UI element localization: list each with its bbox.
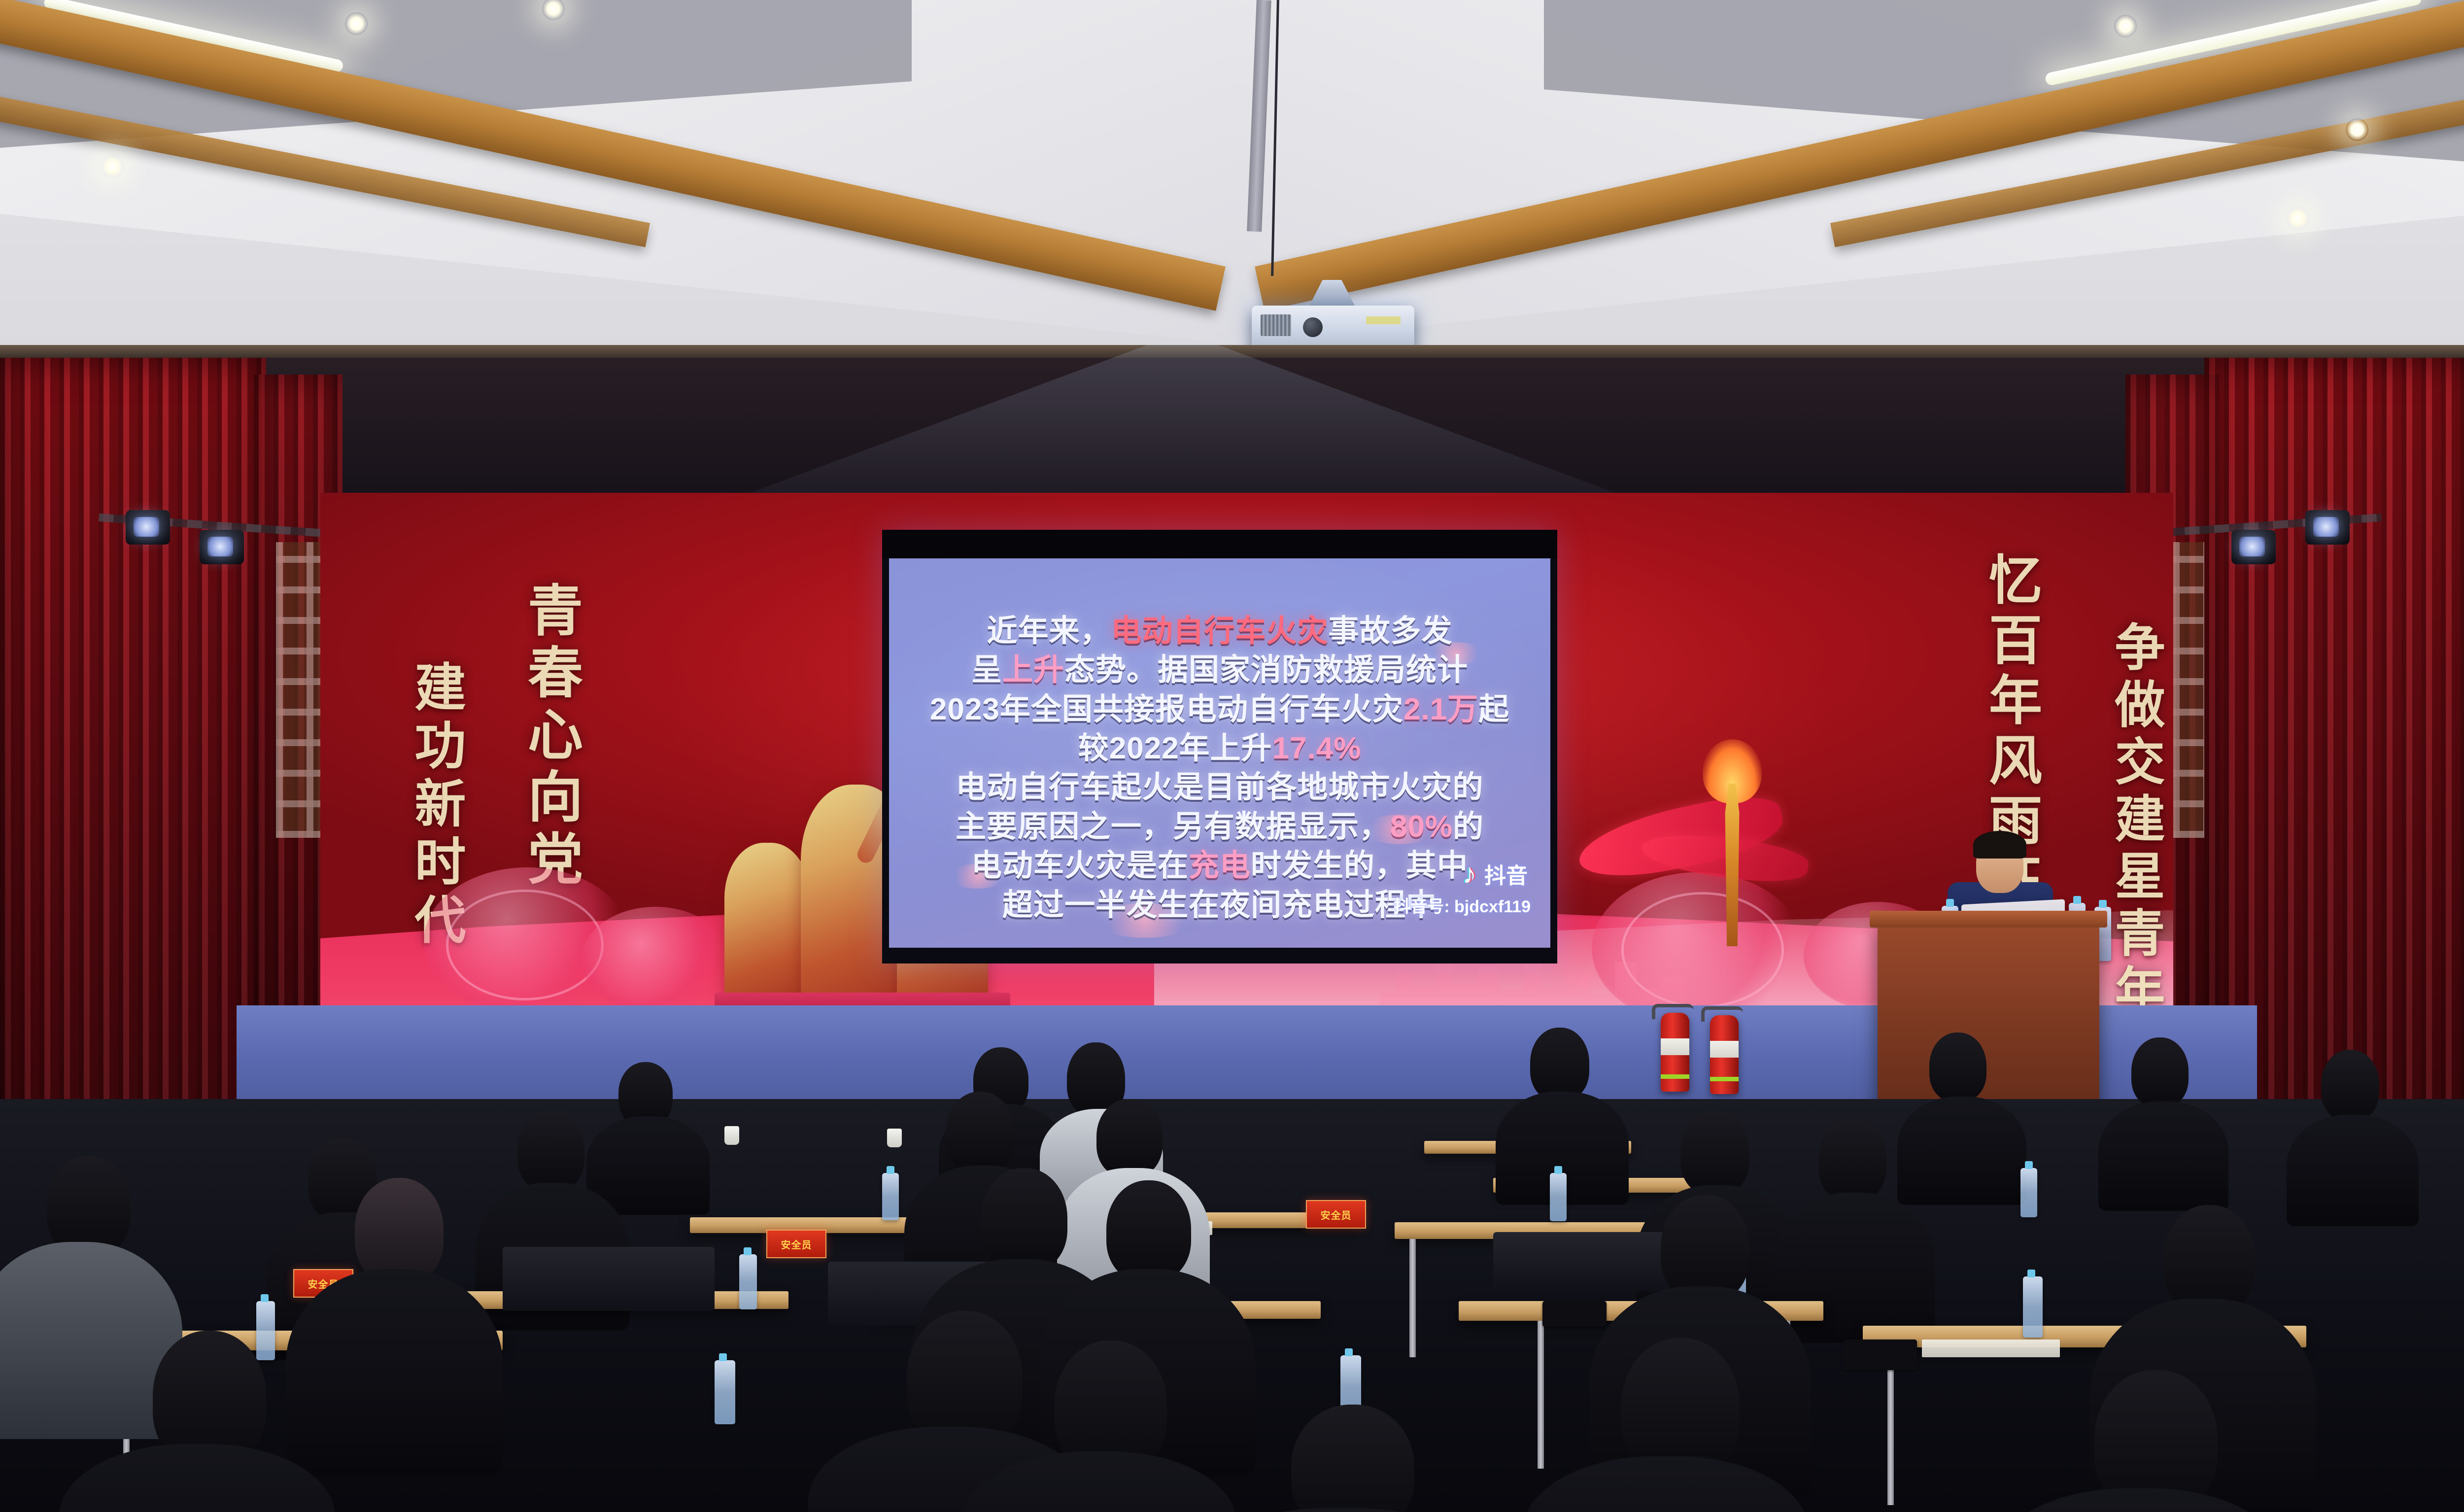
audience-head — [2131, 1037, 2189, 1107]
audience-head — [2163, 1205, 2255, 1314]
backdrop-calligraphy-right-2: 争做交建星青年 — [2110, 621, 2160, 1021]
downlight-icon — [345, 12, 368, 35]
slide-line: 呈上升态势。据国家消防救援局统计 — [889, 651, 1550, 689]
fire-extinguisher-icon — [1710, 1015, 1739, 1094]
slide-text-segment: 超过一半发生在夜间充电过程中 — [1002, 888, 1437, 922]
slide-line: 主要原因之一，另有数据显示，80%的 — [889, 807, 1550, 846]
paper-cup — [724, 1126, 739, 1145]
douyin-watermark: ♪ 抖音 — [1463, 858, 1528, 890]
smartphone — [1843, 1340, 1917, 1370]
audience-head — [1680, 1111, 1749, 1195]
projection-screen: 近年来，电动自行车火灾事故多发呈上升态势。据国家消防救援局统计2023年全国共接… — [889, 558, 1550, 948]
slide-text-segment: 起 — [1478, 692, 1509, 726]
wall-trim — [0, 345, 2464, 358]
slide-line: 电动车火灾是在充电时发生的，其中 — [889, 846, 1550, 885]
slide-text-segment: 的 — [1453, 810, 1484, 844]
water-bottle — [2023, 1276, 2043, 1338]
water-bottle — [739, 1254, 757, 1309]
statue-figure — [724, 843, 811, 1005]
stage-light-icon — [2231, 530, 2276, 564]
table-name-card: 安全员 — [1306, 1200, 1366, 1229]
slide-text-segment: 2023年全国共接报电动自行车火灾 — [930, 692, 1403, 726]
slide-text-segment: 主要原因之一，另有数据显示， — [956, 810, 1390, 844]
paper-handout — [1922, 1340, 2060, 1357]
podium-top — [1870, 911, 2107, 928]
downlight-icon — [101, 155, 124, 178]
audience-head — [2321, 1050, 2379, 1121]
smartphone — [1542, 1301, 1607, 1327]
stage-light-icon — [2305, 510, 2350, 545]
slide-text-segment: 电动车火灾是在 — [971, 849, 1189, 883]
screen-top-band — [882, 530, 1557, 558]
downlight-icon — [2346, 118, 2368, 141]
audience-head — [1530, 1028, 1589, 1100]
slide-text-segment: 80% — [1390, 810, 1453, 844]
douyin-label: 抖音 — [1484, 858, 1528, 890]
slide-text-segment: 2.1万 — [1403, 692, 1478, 726]
audience-head — [1661, 1195, 1749, 1302]
downlight-icon — [2287, 207, 2309, 230]
audience-head — [355, 1178, 444, 1284]
slide-text-segment: 呈 — [971, 653, 1002, 687]
water-bottle — [2020, 1168, 2037, 1217]
audience-shoulders — [1897, 1097, 2026, 1205]
stage-light-icon — [126, 510, 170, 545]
slide-text-segment: 电动自行车火灾 — [1111, 614, 1328, 648]
audience-head — [517, 1111, 584, 1191]
slide-text-segment: 近年来， — [987, 614, 1111, 648]
water-bottle — [256, 1301, 275, 1360]
stage-curtain-left — [0, 358, 266, 1146]
desk-leg — [1538, 1321, 1544, 1469]
music-note-icon: ♪ — [1463, 860, 1476, 888]
slide-line: 近年来，电动自行车火灾事故多发 — [889, 612, 1550, 651]
slide-line: 2023年全国共接报电动自行车火灾2.1万起 — [889, 690, 1550, 729]
water-bottle — [1550, 1173, 1567, 1221]
audience-shoulders — [2287, 1115, 2419, 1226]
audience-head — [1929, 1032, 1986, 1101]
fire-extinguisher-icon — [1661, 1013, 1689, 1092]
peony-decoration — [582, 907, 729, 1013]
audience-head — [1818, 1119, 1886, 1202]
douyin-account-id: 抖音号: bjdcxf119 — [1394, 893, 1531, 917]
slide-text-block: 近年来，电动自行车火灾事故多发呈上升态势。据国家消防救援局统计2023年全国共接… — [889, 612, 1550, 925]
slide-text-segment: 态势。据国家消防救援局统计 — [1064, 653, 1468, 687]
downlight-icon — [2114, 15, 2137, 37]
backdrop-calligraphy-left-1: 青春心向党 — [522, 582, 578, 892]
water-bottle — [715, 1360, 735, 1424]
stage-light-icon — [200, 530, 244, 564]
auditorium-photo: 青春心向党 建功新时代 忆百年风雨征程 争做交建星青年 近年来，电动自行车火灾事… — [0, 0, 2464, 1512]
slide-text-segment: 电动自行车起火是目前各地城市火灾的 — [956, 770, 1483, 804]
slide-text-segment: 事故多发 — [1329, 614, 1453, 648]
audience-head — [1096, 1099, 1163, 1177]
slide-text-segment: 时发生的，其中 — [1251, 849, 1468, 883]
audience-head — [981, 1168, 1067, 1271]
desk-leg — [1409, 1239, 1416, 1357]
peony-outline — [446, 890, 604, 1000]
slide-text-segment: 上升 — [1002, 653, 1064, 687]
slide-line: 电动自行车起火是目前各地城市火灾的 — [889, 768, 1550, 807]
speaker-hair — [1973, 831, 2026, 859]
slide-line: 较2022年上升17.4% — [889, 729, 1550, 768]
audience-head — [1106, 1180, 1191, 1281]
slide-text-segment: 充电 — [1189, 849, 1251, 883]
slide-text-segment: 17.4% — [1272, 731, 1362, 765]
projector-vent — [1261, 314, 1291, 336]
paper-cup — [887, 1129, 902, 1147]
audience-shoulders — [286, 1269, 503, 1476]
water-bottle — [882, 1173, 899, 1220]
table-name-card: 安全员 — [766, 1230, 826, 1258]
desk-leg — [1887, 1347, 1894, 1505]
slide-text-segment: 较2022年上升 — [1078, 731, 1272, 765]
projection-screen-frame: 近年来，电动自行车火灾事故多发呈上升态势。据国家消防救援局统计2023年全国共接… — [882, 530, 1557, 963]
chair-back — [503, 1247, 715, 1311]
audience-head — [946, 1092, 1014, 1173]
projector-lens — [1303, 317, 1323, 337]
projector-label — [1366, 316, 1401, 324]
audience-shoulders — [2098, 1101, 2228, 1211]
